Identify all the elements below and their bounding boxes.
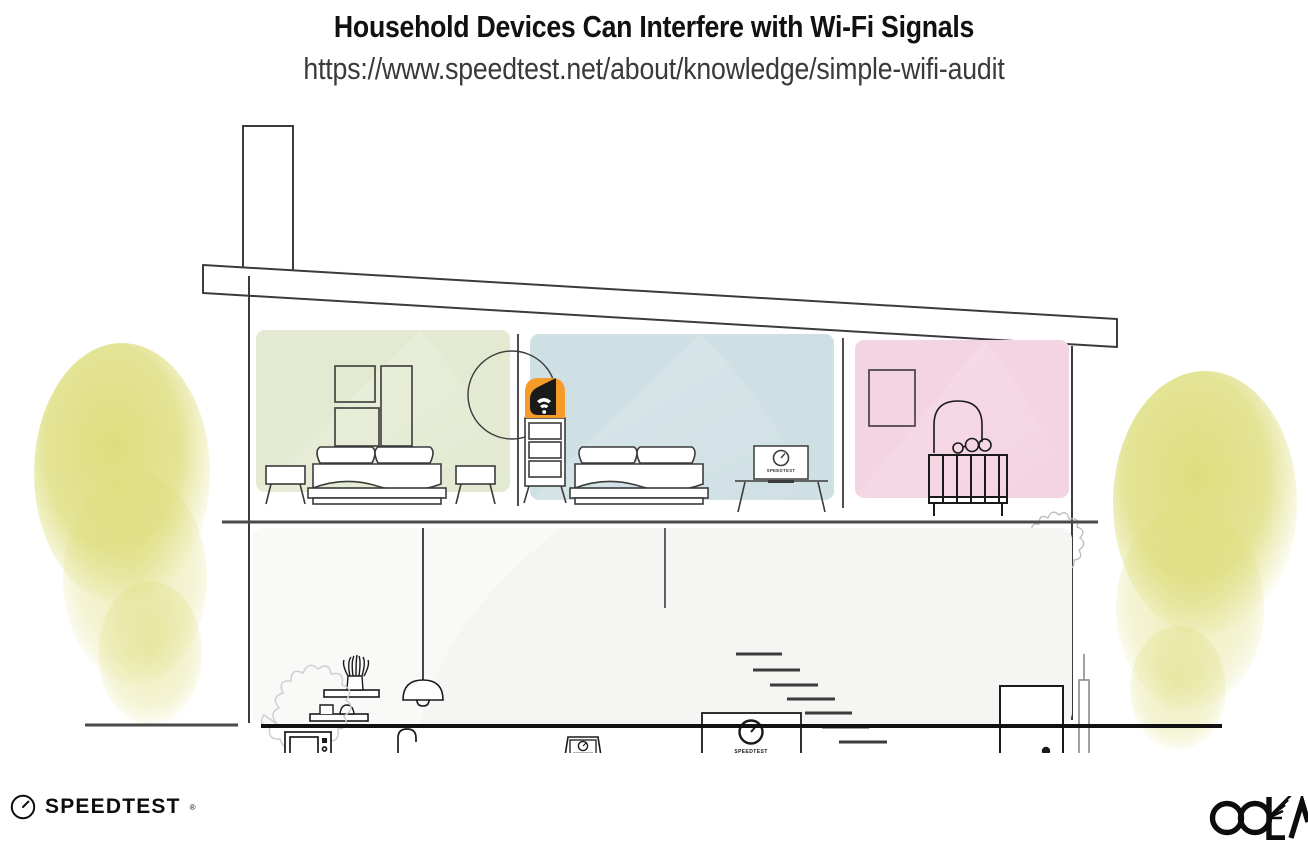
wall-shelf-top: [324, 690, 379, 697]
laptop-speedtest[interactable]: SPEEDTEST: [560, 737, 608, 753]
page-root: Household Devices Can Interfere with Wi-…: [0, 0, 1308, 861]
microwave: [285, 732, 331, 753]
trademark-symbol: ®: [190, 803, 196, 812]
speedtest-logo[interactable]: SPEEDTEST ®: [10, 794, 196, 820]
house-illustration: SPEEDTEST: [0, 108, 1308, 753]
speedometer-icon: [10, 794, 36, 820]
wifi-router-icon[interactable]: [525, 378, 565, 418]
ookla-logo[interactable]: [1205, 796, 1308, 845]
header: Household Devices Can Interfere with Wi-…: [0, 0, 1308, 84]
room-pink-nursery: [855, 340, 1069, 498]
source-url: https://www.speedtest.net/about/knowledg…: [92, 53, 1217, 84]
page-title: Household Devices Can Interfere with Wi-…: [92, 11, 1217, 42]
svg-text:SPEEDTEST: SPEEDTEST: [573, 752, 594, 753]
speedtest-wordmark: SPEEDTEST: [45, 795, 181, 819]
footer: SPEEDTEST ®: [0, 780, 1308, 861]
bed-green: [308, 447, 446, 504]
tree-foliage-left: [34, 343, 210, 725]
bed-blue: [570, 447, 708, 504]
tree-foliage-right: [1113, 371, 1297, 750]
chimney: [243, 126, 293, 276]
entry-door[interactable]: [1000, 686, 1063, 753]
svg-text:SPEEDTEST: SPEEDTEST: [767, 468, 796, 473]
kitchen-sink-faucet: [398, 729, 416, 753]
svg-text:SPEEDTEST: SPEEDTEST: [734, 749, 767, 753]
television-speedtest: SPEEDTEST: [702, 713, 801, 753]
window-strip: [1079, 654, 1089, 753]
monitor-speedtest: SPEEDTEST: [754, 446, 808, 483]
